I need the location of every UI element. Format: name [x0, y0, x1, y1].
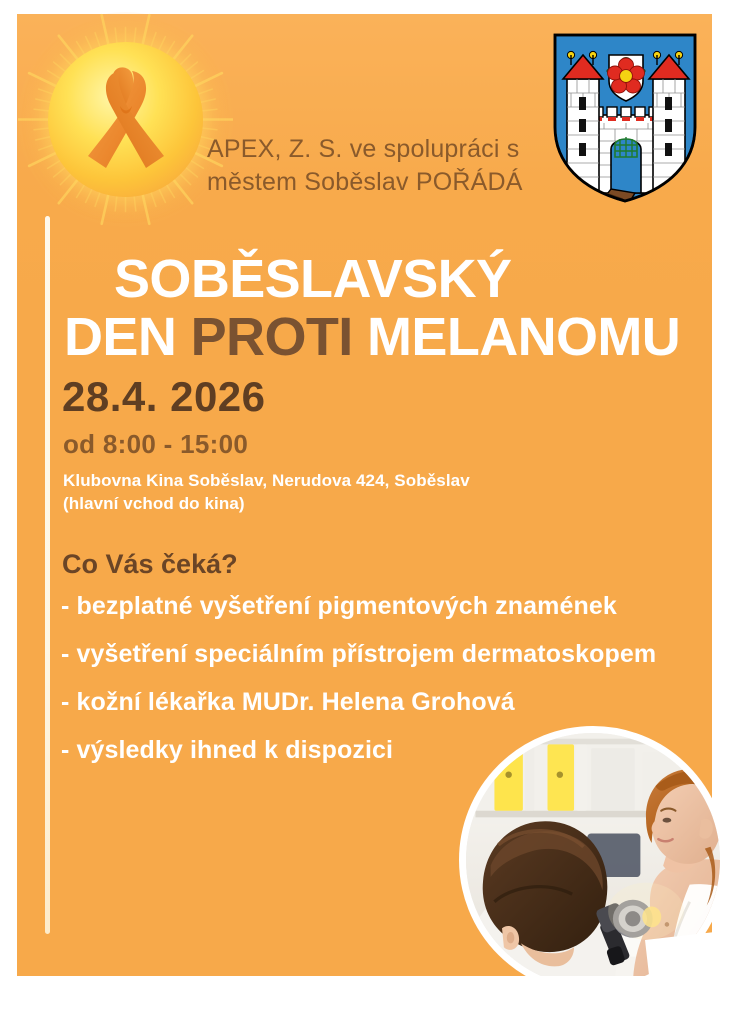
- page-title: SOBĚSLAVSKÝ DEN PROTI MELANOMU: [64, 252, 724, 364]
- organizer-line-1: APEX, Z. S. ve spolupráci s: [207, 133, 577, 166]
- organizer-text: APEX, Z. S. ve spolupráci s městem Soběs…: [207, 133, 577, 199]
- title-word-proti: PROTI: [191, 307, 353, 367]
- offer-heading: Co Vás čeká?: [62, 548, 238, 580]
- list-item: - bezplatné vyšetření pigmentových znamé…: [61, 592, 726, 621]
- vertical-accent-rule: [45, 216, 50, 934]
- awareness-ribbon-icon: [80, 64, 172, 176]
- event-time: od 8:00 - 15:00: [63, 429, 248, 459]
- list-item: - vyšetření speciálním přístrojem dermat…: [61, 640, 726, 669]
- apex-ribbon-logo: [18, 12, 233, 227]
- title-line-1: SOBĚSLAVSKÝ: [114, 252, 724, 306]
- title-word-melanomu: MELANOMU: [353, 307, 681, 367]
- sobeslav-coat-of-arms: [551, 31, 699, 205]
- venue-line-1: Klubovna Kina Soběslav, Nerudova 424, So…: [63, 469, 623, 492]
- poster-canvas: APEX, Z. S. ve spolupráci s městem Soběs…: [0, 0, 729, 1024]
- venue-line-2: (hlavní vchod do kina): [63, 492, 623, 515]
- event-date: 28.4. 2026: [62, 374, 266, 420]
- title-word-den: DEN: [64, 307, 191, 367]
- event-venue: Klubovna Kina Soběslav, Nerudova 424, So…: [63, 469, 623, 515]
- bottom-white-margin: [0, 976, 729, 1024]
- title-line-2: DEN PROTI MELANOMU: [64, 310, 724, 364]
- organizer-line-2: městem Soběslav POŘÁDÁ: [207, 166, 577, 199]
- list-item: - kožní lékařka MUDr. Helena Grohová: [61, 688, 726, 717]
